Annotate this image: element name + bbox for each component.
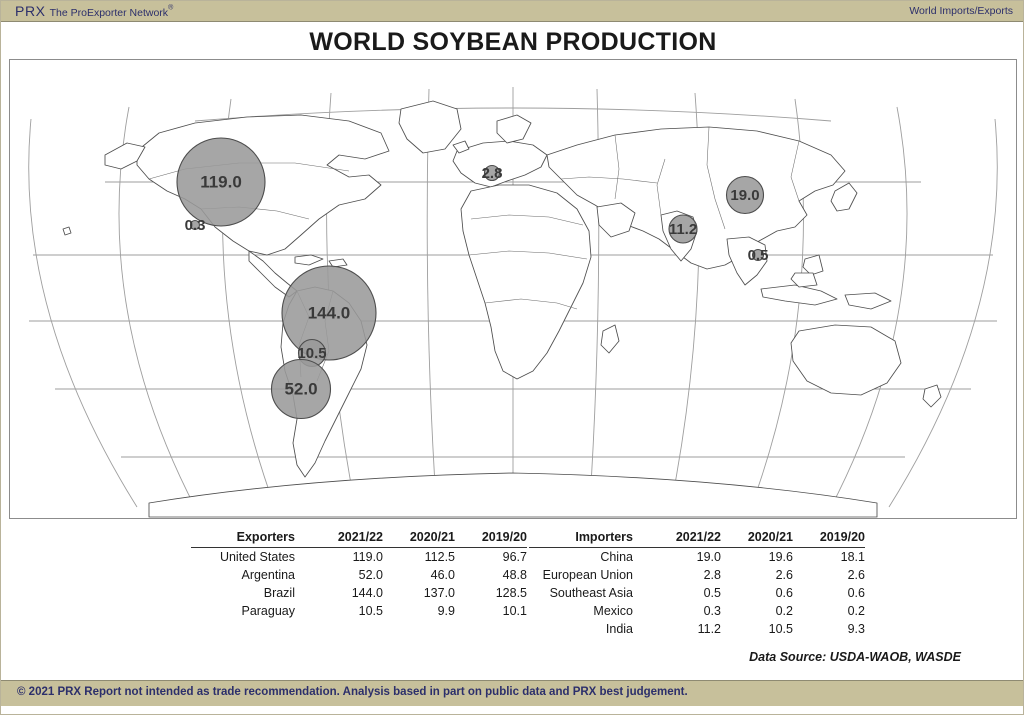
bubble-label-mexico: 0.3 <box>185 217 206 234</box>
bubble-label-brazil: 144.0 <box>308 303 351 322</box>
exporter-v2020: 137.0 <box>383 584 455 602</box>
importers-col-name: Importers <box>529 529 649 548</box>
exporters-col-name: Exporters <box>191 529 311 548</box>
importer-v2020: 2.6 <box>721 566 793 584</box>
importers-table: Importers 2021/22 2020/21 2019/20 China … <box>529 529 865 638</box>
exporter-v2020: 9.9 <box>383 602 455 620</box>
bubble-china: 19.0 <box>727 177 764 214</box>
bubble-mexico: 0.3 <box>185 217 206 234</box>
header-bar: PRXThe ProExporter Network® World Import… <box>1 1 1024 22</box>
table-row: Argentina 52.0 46.0 48.8 <box>191 566 527 584</box>
brand-name: The ProExporter Network <box>50 7 168 19</box>
bubble-label-china: 19.0 <box>730 187 759 204</box>
importer-v2021: 0.3 <box>649 602 721 620</box>
importer-v2019: 18.1 <box>793 548 865 567</box>
bubble-argentina: 52.0 <box>272 360 331 419</box>
importer-v2019: 0.6 <box>793 584 865 602</box>
bubble-label-argentina: 52.0 <box>284 379 317 398</box>
exporters-table: Exporters 2021/22 2020/21 2019/20 United… <box>191 529 527 620</box>
exporter-name: Argentina <box>191 566 311 584</box>
table-row: China 19.0 19.6 18.1 <box>529 548 865 567</box>
importer-name: Southeast Asia <box>529 584 649 602</box>
importer-name: India <box>529 620 649 638</box>
exporter-v2021: 10.5 <box>311 602 383 620</box>
importer-v2020: 10.5 <box>721 620 793 638</box>
exporter-v2021: 144.0 <box>311 584 383 602</box>
importer-v2020: 0.6 <box>721 584 793 602</box>
map-svg: 119.0 0.3 144.0 10.5 52.0 <box>9 59 1017 519</box>
bubble-southeast-asia: 0.5 <box>748 247 769 264</box>
importer-name: European Union <box>529 566 649 584</box>
exporter-v2021: 119.0 <box>311 548 383 567</box>
importers-col-2019: 2019/20 <box>793 529 865 548</box>
exporter-name: Brazil <box>191 584 311 602</box>
importer-v2020: 0.2 <box>721 602 793 620</box>
exporters-header-row: Exporters 2021/22 2020/21 2019/20 <box>191 529 527 548</box>
table-row: India 11.2 10.5 9.3 <box>529 620 865 638</box>
table-row: European Union 2.8 2.6 2.6 <box>529 566 865 584</box>
table-row: Southeast Asia 0.5 0.6 0.6 <box>529 584 865 602</box>
table-row: Mexico 0.3 0.2 0.2 <box>529 602 865 620</box>
land-hawaii <box>63 227 71 235</box>
importer-v2019: 0.2 <box>793 602 865 620</box>
importer-v2019: 2.6 <box>793 566 865 584</box>
bubble-label-european-union: 2.8 <box>482 165 503 182</box>
exporter-v2019: 96.7 <box>455 548 527 567</box>
registered-trademark-icon: ® <box>168 5 173 12</box>
data-source-note: Data Source: USDA-WAOB, WASDE <box>749 650 961 664</box>
bubble-united-states: 119.0 <box>177 138 265 226</box>
bubble-label-india: 11.2 <box>669 221 697 238</box>
exporters-col-2020: 2020/21 <box>383 529 455 548</box>
exporters-col-2019: 2019/20 <box>455 529 527 548</box>
importer-v2021: 11.2 <box>649 620 721 638</box>
exporter-v2020: 112.5 <box>383 548 455 567</box>
bubble-label-united-states: 119.0 <box>200 172 242 191</box>
importers-col-2021: 2021/22 <box>649 529 721 548</box>
importer-name: Mexico <box>529 602 649 620</box>
importer-v2019: 9.3 <box>793 620 865 638</box>
footer-bar: © 2021 PRX Report not intended as trade … <box>1 680 1024 706</box>
exporter-name: United States <box>191 548 311 567</box>
exporters-col-2021: 2021/22 <box>311 529 383 548</box>
exporter-v2021: 52.0 <box>311 566 383 584</box>
exporter-v2020: 46.0 <box>383 566 455 584</box>
brand-abbr: PRX <box>15 3 46 19</box>
world-map: 119.0 0.3 144.0 10.5 52.0 <box>9 59 1017 519</box>
importer-v2020: 19.6 <box>721 548 793 567</box>
importer-v2021: 0.5 <box>649 584 721 602</box>
header-section-label: World Imports/Exports <box>909 5 1013 17</box>
exporter-v2019: 48.8 <box>455 566 527 584</box>
bubble-india: 11.2 <box>669 215 697 243</box>
exporter-v2019: 10.1 <box>455 602 527 620</box>
importers-header-row: Importers 2021/22 2020/21 2019/20 <box>529 529 865 548</box>
importer-v2021: 2.8 <box>649 566 721 584</box>
importer-v2021: 19.0 <box>649 548 721 567</box>
importers-col-2020: 2020/21 <box>721 529 793 548</box>
exporter-v2019: 128.5 <box>455 584 527 602</box>
table-row: United States 119.0 112.5 96.7 <box>191 548 527 567</box>
report-page: PRXThe ProExporter Network® World Import… <box>0 0 1024 715</box>
page-title: WORLD SOYBEAN PRODUCTION <box>1 28 1024 57</box>
footer-disclaimer: © 2021 PRX Report not intended as trade … <box>17 686 688 698</box>
bubble-brazil: 144.0 <box>282 266 376 360</box>
brand-logo: PRXThe ProExporter Network® <box>15 3 173 21</box>
table-row: Paraguay 10.5 9.9 10.1 <box>191 602 527 620</box>
exporter-name: Paraguay <box>191 602 311 620</box>
bubble-european-union: 2.8 <box>482 165 503 182</box>
importer-name: China <box>529 548 649 567</box>
table-row: Brazil 144.0 137.0 128.5 <box>191 584 527 602</box>
bubble-label-southeast-asia: 0.5 <box>748 247 769 264</box>
